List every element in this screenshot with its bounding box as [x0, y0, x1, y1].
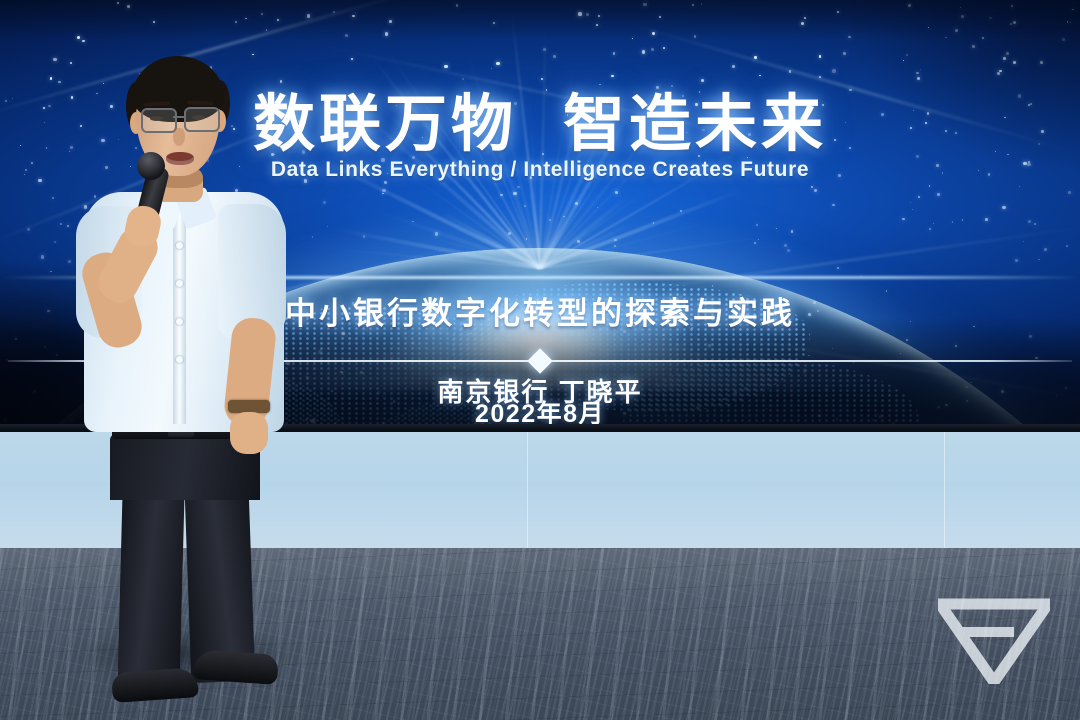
shirt-button	[176, 318, 183, 325]
shirt-button	[176, 242, 183, 249]
nose	[173, 128, 185, 146]
speaker-figure	[60, 56, 310, 688]
glasses-icon	[141, 108, 177, 133]
shirt-button	[176, 356, 183, 363]
mouth	[166, 152, 194, 165]
wall-panel-seam	[527, 432, 528, 550]
leg-left	[117, 491, 184, 689]
shoe-left	[111, 667, 199, 703]
wall-panel-seam	[944, 432, 945, 550]
glasses-bridge	[173, 116, 184, 118]
shirt-button	[176, 280, 183, 287]
chevron-v-logo-icon	[938, 588, 1050, 684]
glasses-lens-right	[184, 107, 220, 132]
shoe-right	[193, 649, 279, 685]
slide-title-main-right: 智造未来	[563, 90, 827, 159]
photo-stage: 数联万物智造未来 Data Links Everything / Intelli…	[0, 0, 1080, 720]
hand-right	[230, 412, 268, 454]
shirt-placket	[173, 208, 186, 424]
